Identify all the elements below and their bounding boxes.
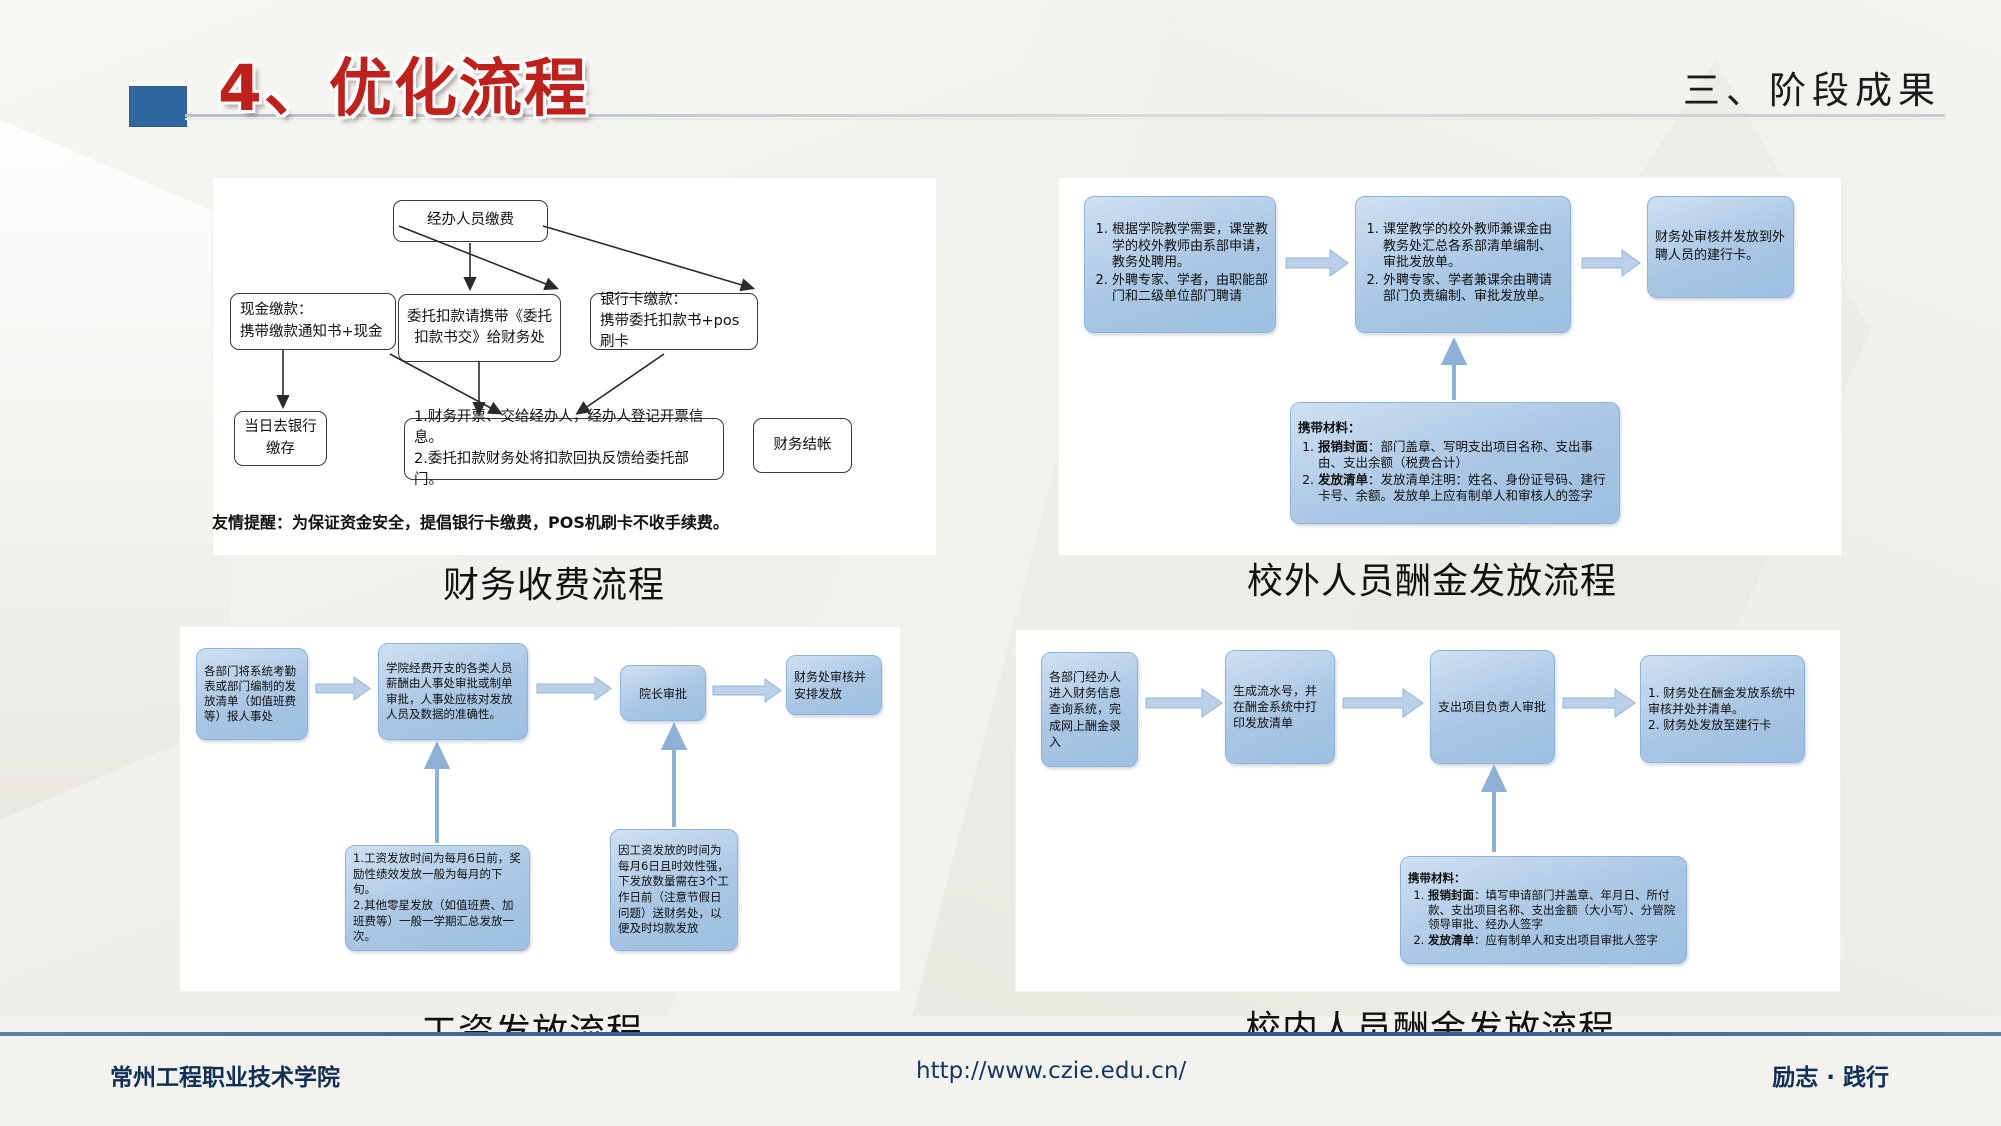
caption-external-remuneration: 校外人员酬金发放流程 (1247, 552, 1617, 604)
node-ext-apply-item-1: 根据学院教学需要，课堂教学的校外教师由系部申请，教务处聘用。 (1112, 222, 1268, 272)
footer-motto: 励志 · 践行 (1772, 1058, 1889, 1092)
node-salary-finance-payout[interactable]: 财务处审核并安排发放 (786, 655, 882, 715)
footer-institution: 常州工程职业技术学院 (110, 1058, 340, 1092)
header-accent-square (129, 86, 187, 127)
node-ext-materials[interactable]: 携带材料： 报销封面：部门盖章、写明支出项目名称、支出事由、支出余额（税费合计）… (1290, 402, 1620, 524)
node-int-payout-line-1: 1. 财务处在酬金发放系统中审核并处并清单。 (1648, 685, 1797, 717)
node-bank-card-payment[interactable]: 银行卡缴款： 携带委托扣款书+pos刷卡 (590, 293, 758, 350)
node-salary-hr-approve[interactable]: 学院经费开支的各类人员薪酬由人事处审批或制单审批，人事处应核对发放人员及数据的准… (378, 643, 528, 740)
page-title: 4、优化流程 (218, 38, 589, 129)
node-finance-settlement[interactable]: 财务结帐 (753, 418, 852, 473)
node-ext-compile-item-2: 外聘专家、学者兼课余由聘请部门负责编制、审批发放单。 (1383, 273, 1563, 306)
materials-item-1-key: 报销封面 (1318, 439, 1368, 454)
node-int-payout[interactable]: 1. 财务处在酬金发放系统中审核并处并清单。 2. 财务处发放至建行卡 (1640, 655, 1805, 763)
slide-header: 4、优化流程 三、阶段成果 (0, 0, 2001, 140)
flowchart-panel-finance-charging (213, 178, 936, 555)
node-salary-submit[interactable]: 各部门将系统考勤表或部门编制的发放清单（如值班费等）报人事处 (196, 648, 308, 740)
section-indicator: 三、阶段成果 (1683, 60, 1941, 114)
node-cash-payment[interactable]: 现金缴款： 携带缴款通知书+现金 (230, 293, 396, 350)
node-int-materials[interactable]: 携带材料： 报销封面：填写申请部门并盖章、年月日、所付款、支出项目名称、支出金额… (1400, 856, 1687, 964)
int-materials-item-2-key: 发放清单 (1428, 933, 1474, 947)
node-int-entry[interactable]: 各部门经办人进入财务信息查询系统，完成网上酬金录入 (1041, 652, 1138, 767)
node-salary-note-schedule[interactable]: 1.工资发放时间为每月6日前，奖励性绩效发放一般为每月的下旬。 2.其他零星发放… (345, 845, 530, 951)
node-ext-compile-item-1: 课堂教学的校外教师兼课金由教务处汇总各系部清单编制、审批发放单。 (1383, 222, 1563, 272)
node-invoice-line-2: 2.委托扣款财务处将扣款回执反馈给委托部门。 (414, 449, 717, 491)
node-entrusted-deduction[interactable]: 委托扣款请携带《委托扣款书交》给财务处 (398, 294, 561, 362)
node-int-approve[interactable]: 支出项目负责人审批 (1430, 650, 1555, 764)
node-same-day-bank-deposit[interactable]: 当日去银行缴存 (234, 411, 327, 466)
caption-finance-charging: 财务收费流程 (443, 556, 665, 608)
materials-item-2-key: 发放清单 (1318, 472, 1368, 487)
salary-note-line-2: 2.其他零星发放（如值班费、加班费等）一般一学期汇总发放一次。 (353, 898, 522, 945)
node-int-payout-line-2: 2. 财务处发放至建行卡 (1648, 717, 1797, 733)
node-salary-president-approve[interactable]: 院长审批 (620, 665, 706, 721)
friendly-reminder-note: 友情提醒：为保证资金安全，提倡银行卡缴费，POS机刷卡不收手续费。 (212, 509, 729, 533)
node-ext-compile[interactable]: 课堂教学的校外教师兼课金由教务处汇总各系部清单编制、审批发放单。 外聘专家、学者… (1355, 196, 1571, 333)
salary-note-line-1: 1.工资发放时间为每月6日前，奖励性绩效发放一般为每月的下旬。 (353, 851, 522, 898)
int-materials-item-2-text: ：应有制单人和支出项目审批人签字 (1474, 933, 1658, 947)
int-materials-title: 携带材料： (1408, 871, 1679, 886)
node-invoice-and-receipt[interactable]: 1.财务开票、交给经办人，经办人登记开票信息。 2.委托扣款财务处将扣款回执反馈… (404, 418, 724, 480)
node-int-serial[interactable]: 生成流水号，并在酬金系统中打印发放清单 (1225, 650, 1335, 764)
materials-title: 携带材料： (1298, 420, 1612, 436)
node-ext-apply-item-2: 外聘专家、学者，由职能部门和二级单位部门聘请 (1112, 273, 1268, 306)
node-ext-apply[interactable]: 根据学院教学需要，课堂教学的校外教师由系部申请，教务处聘用。 外聘专家、学者，由… (1084, 196, 1276, 333)
node-start-payment[interactable]: 经办人员缴费 (393, 200, 548, 242)
node-invoice-line-1: 1.财务开票、交给经办人，经办人登记开票信息。 (414, 407, 717, 449)
node-salary-note-deadline[interactable]: 因工资发放的时间为每月6日且时效性强，下发放数量需在3个工作日前（注意节假日问题… (610, 829, 738, 951)
int-materials-item-1-key: 报销封面 (1428, 888, 1474, 902)
footer-url[interactable]: http://www.czie.edu.cn/ (916, 1058, 1186, 1084)
node-ext-payout[interactable]: 财务处审核并发放到外聘人员的建行卡。 (1647, 196, 1794, 298)
